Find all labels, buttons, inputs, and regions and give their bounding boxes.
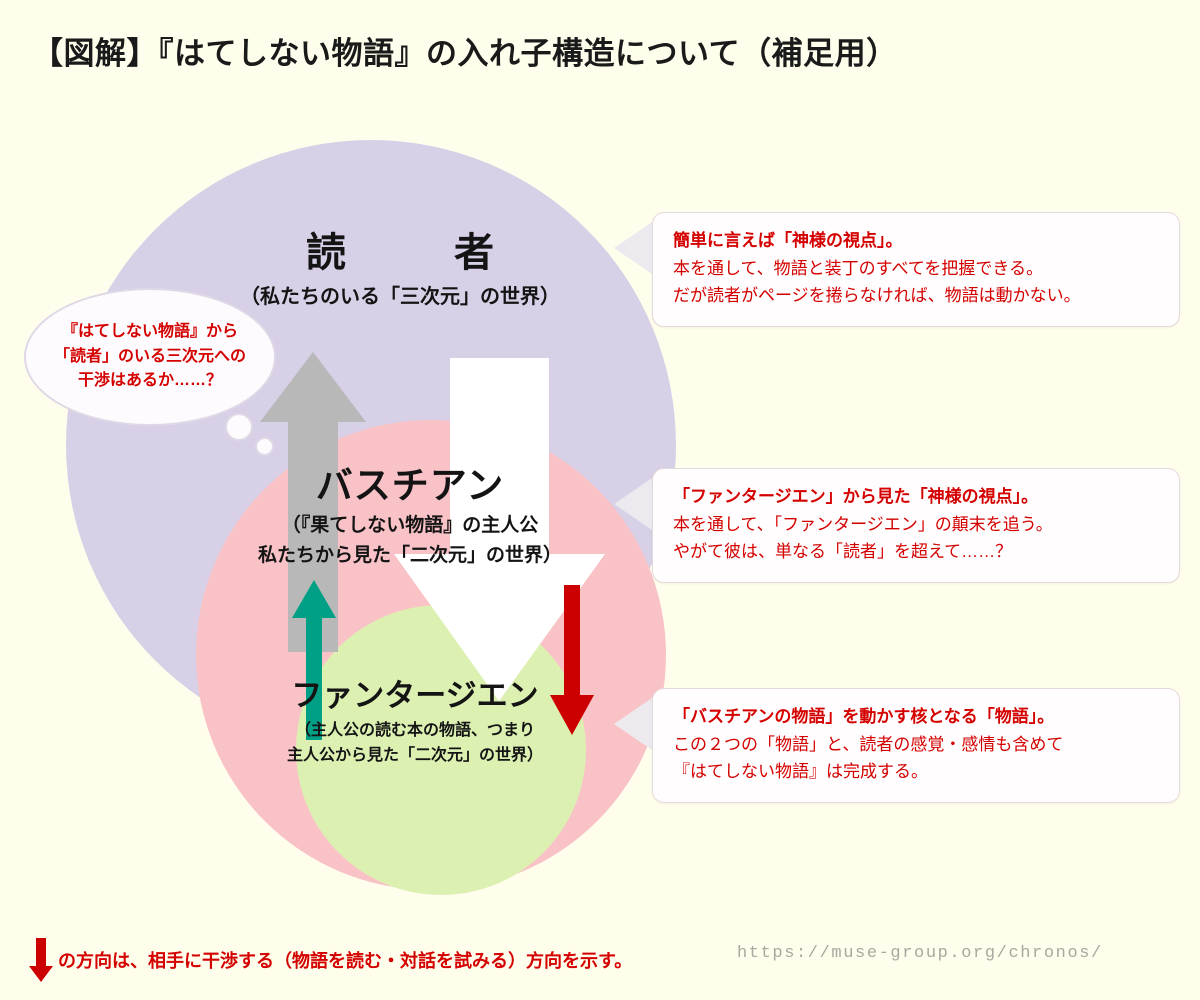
callout-bastian: 「ファンタージエン」から見た「神様の視点」。 本を通して、「ファンタージエン」の… — [652, 468, 1180, 583]
label-fantasien-title: ファンタージエン — [200, 676, 630, 716]
thought-bubble-line-2: 「読者」のいる三次元への — [54, 345, 246, 370]
callout-bastian-line-2: 本を通して、「ファンタージエン」の顛末を追う。 — [673, 511, 1159, 539]
callout-fantasien-line-1: 「バスチアンの物語」を動かす核となる「物語」。 — [673, 703, 1159, 731]
footer-url[interactable]: https://muse-group.org/chronos/ — [737, 944, 1103, 963]
callout-reader-tail — [614, 222, 652, 274]
callout-reader-line-2: 本を通して、物語と装丁のすべてを把握できる。 — [673, 255, 1159, 283]
thought-bubble-line-3: 干渉はあるか……？ — [78, 369, 222, 394]
label-reader-subtitle-1: （私たちのいる「三次元」の世界） — [180, 285, 620, 311]
callout-fantasien-tail — [614, 698, 652, 750]
diagram-canvas: 【図解】『はてしない物語』の入れ子構造について（補足用） 読 者 （私たちのいる… — [0, 0, 1200, 1000]
thought-bubble-dot-large — [225, 413, 253, 441]
callout-bastian-line-3: やがて彼は、単なる「読者」を超えて……？ — [673, 538, 1159, 566]
callout-fantasien-line-3: 『はてしない物語』は完成する。 — [673, 758, 1159, 786]
thought-bubble-dot-small — [255, 437, 274, 456]
label-reader-title: 読 者 — [180, 228, 620, 279]
legend-down-arrow-icon — [28, 938, 54, 982]
thought-bubble: 『はてしない物語』から 「読者」のいる三次元への 干渉はあるか……？ — [24, 288, 276, 426]
label-fantasien: ファンタージエン （主人公の読む本の物語、つまり 主人公から見た「二次元」の世界… — [200, 676, 630, 767]
callout-fantasien: 「バスチアンの物語」を動かす核となる「物語」。 この２つの「物語」と、読者の感覚… — [652, 688, 1180, 803]
callout-reader: 簡単に言えば「神様の視点」。 本を通して、物語と装丁のすべてを把握できる。 だが… — [652, 212, 1180, 327]
callout-fantasien-line-2: この２つの「物語」と、読者の感覚・感情も含めて — [673, 731, 1159, 759]
label-bastian: バスチアン （『果てしない物語』の主人公 私たちから見た「二次元」の世界） — [180, 462, 640, 568]
footer-legend: の方向は、相手に干渉する（物語を読む・対話を試みる）方向を示す。 — [28, 938, 632, 982]
thought-bubble-line-1: 『はてしない物語』から — [62, 320, 238, 345]
footer-legend-text: の方向は、相手に干渉する（物語を読む・対話を試みる）方向を示す。 — [58, 947, 632, 973]
label-bastian-subtitle-2: 私たちから見た「二次元」の世界） — [180, 544, 640, 568]
callout-bastian-tail — [614, 478, 652, 530]
page-title: 【図解】『はてしない物語』の入れ子構造について（補足用） — [32, 28, 898, 73]
label-fantasien-subtitle-2: 主人公から見た「二次元」の世界） — [200, 746, 630, 766]
label-reader: 読 者 （私たちのいる「三次元」の世界） — [180, 228, 620, 311]
callout-bastian-line-1: 「ファンタージエン」から見た「神様の視点」。 — [673, 483, 1159, 511]
callout-reader-line-3: だが読者がページを捲らなければ、物語は動かない。 — [673, 282, 1159, 310]
callout-reader-line-1: 簡単に言えば「神様の視点」。 — [673, 227, 1159, 255]
label-bastian-subtitle-1: （『果てしない物語』の主人公 — [180, 514, 640, 538]
label-fantasien-subtitle-1: （主人公の読む本の物語、つまり — [200, 721, 630, 741]
label-bastian-title: バスチアン — [180, 462, 640, 509]
